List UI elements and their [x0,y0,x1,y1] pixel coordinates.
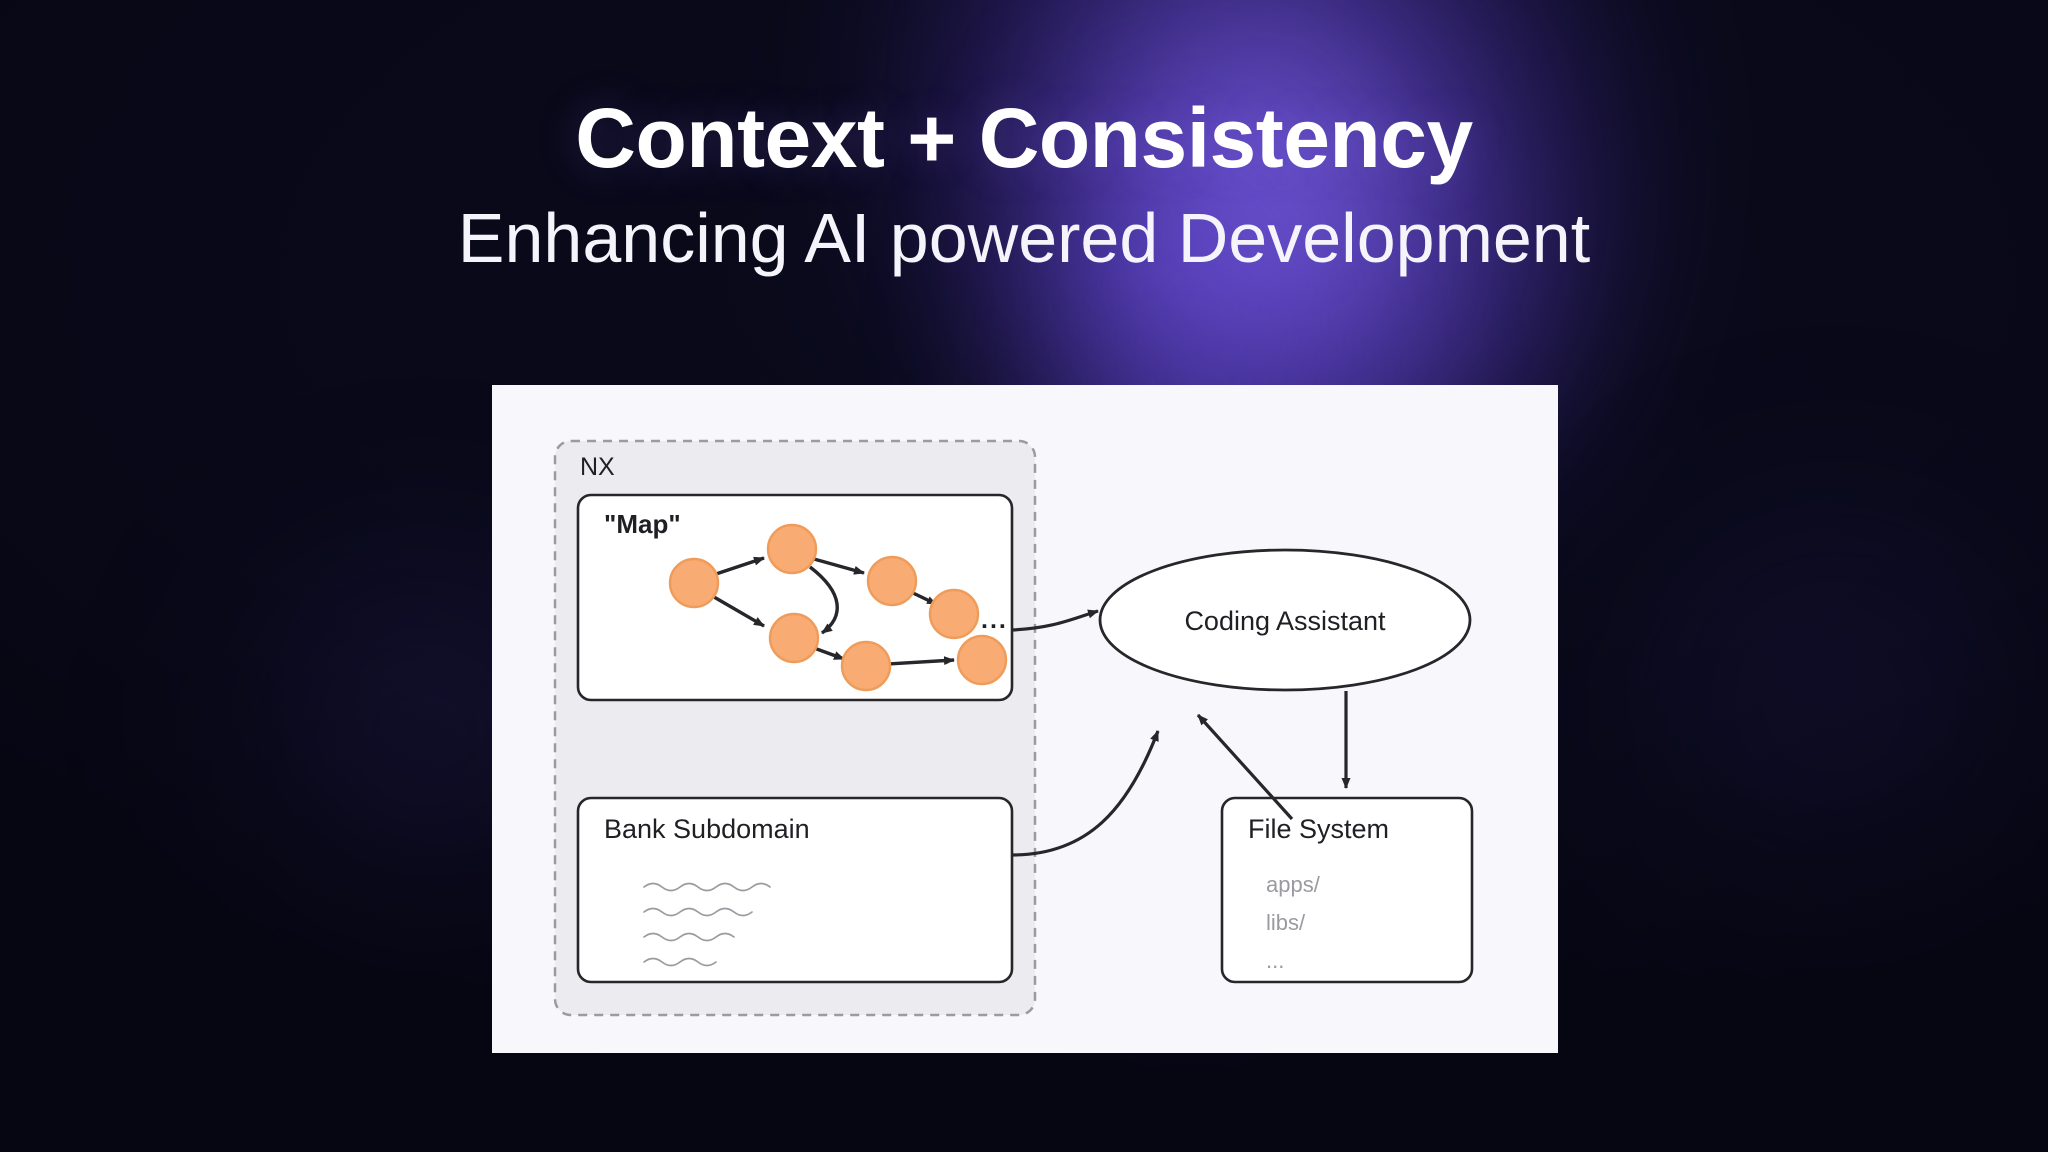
architecture-diagram: NX "Map" ... Bank Subdomain [492,385,1558,1053]
coding-assistant-label: Coding Assistant [1184,606,1386,636]
map-box-label: "Map" [604,509,681,539]
diagram-panel: NX "Map" ... Bank Subdomain [492,385,1558,1053]
slide-subtitle: Enhancing AI powered Development [0,202,2048,276]
graph-node [842,642,890,690]
graph-node [958,636,1006,684]
graph-ellipsis: ... [981,606,1008,634]
graph-node [670,559,718,607]
file-system-item: libs/ [1266,910,1306,935]
file-system-box: File System apps/ libs/ ... [1222,798,1472,982]
graph-node [868,557,916,605]
file-system-item: apps/ [1266,872,1321,897]
graph-node [930,590,978,638]
coding-assistant-node: Coding Assistant [1100,550,1470,690]
slide-heading: Context + Consistency Enhancing AI power… [0,0,2048,276]
map-box: "Map" ... [578,495,1012,700]
slide-title: Context + Consistency [0,96,2048,180]
file-system-label: File System [1248,814,1389,844]
graph-node [768,525,816,573]
bank-box-label: Bank Subdomain [604,814,810,844]
bank-subdomain-box: Bank Subdomain [578,798,1012,982]
graph-node [770,614,818,662]
file-system-item: ... [1266,948,1284,973]
nx-label: NX [580,453,615,481]
